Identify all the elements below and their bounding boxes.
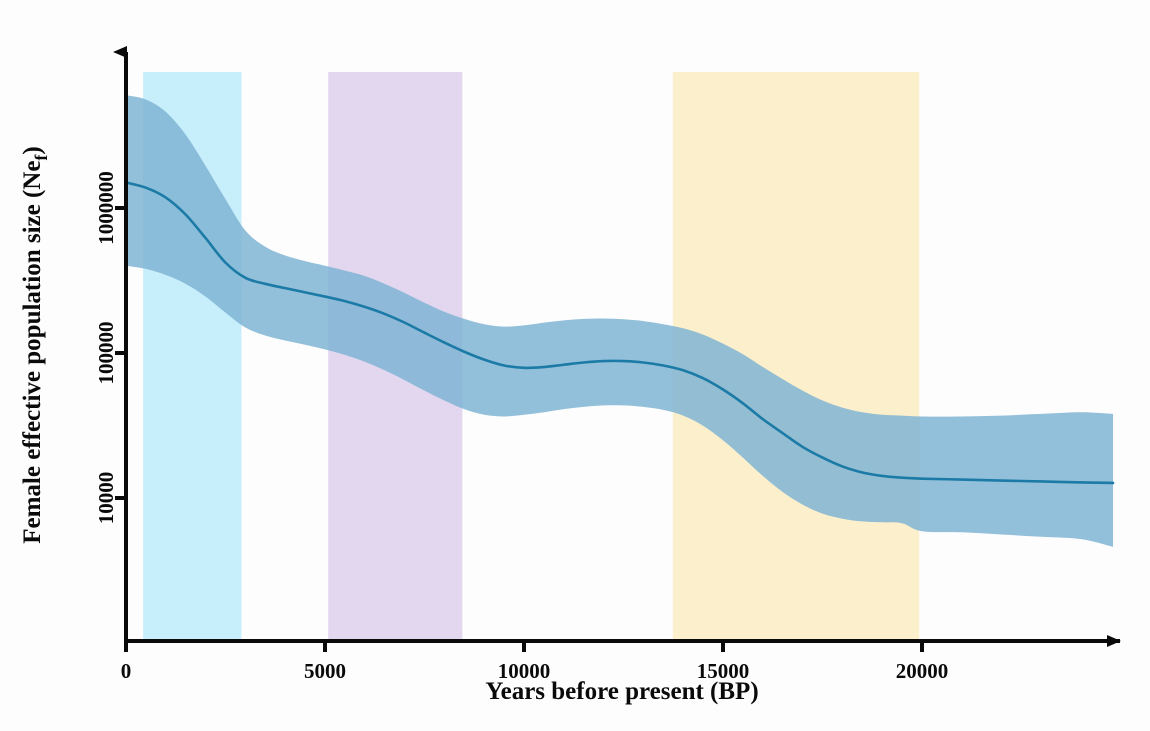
chart-container: 05000100001500020000 100001000001000000 …	[0, 0, 1150, 731]
y-tick-label: 100000	[94, 322, 118, 385]
y-tick-label: 10000	[94, 472, 118, 525]
x-axis-ticks: 05000100001500020000	[121, 641, 949, 683]
y-tick-label: 1000000	[94, 171, 118, 245]
x-tick-label: 20000	[896, 659, 949, 683]
x-tick-label: 0	[121, 659, 132, 683]
x-axis-label: Years before present (BP)	[485, 678, 758, 705]
y-axis-label: Female effective population size (Nef)	[19, 146, 51, 544]
population-size-chart: 05000100001500020000 100001000001000000 …	[0, 0, 1150, 731]
y-axis-label-close: )	[19, 146, 46, 154]
y-axis-label-main: Female effective population size (Ne	[19, 161, 46, 544]
x-tick-label: 5000	[304, 659, 346, 683]
y-axis-ticks: 100001000001000000	[94, 171, 126, 524]
